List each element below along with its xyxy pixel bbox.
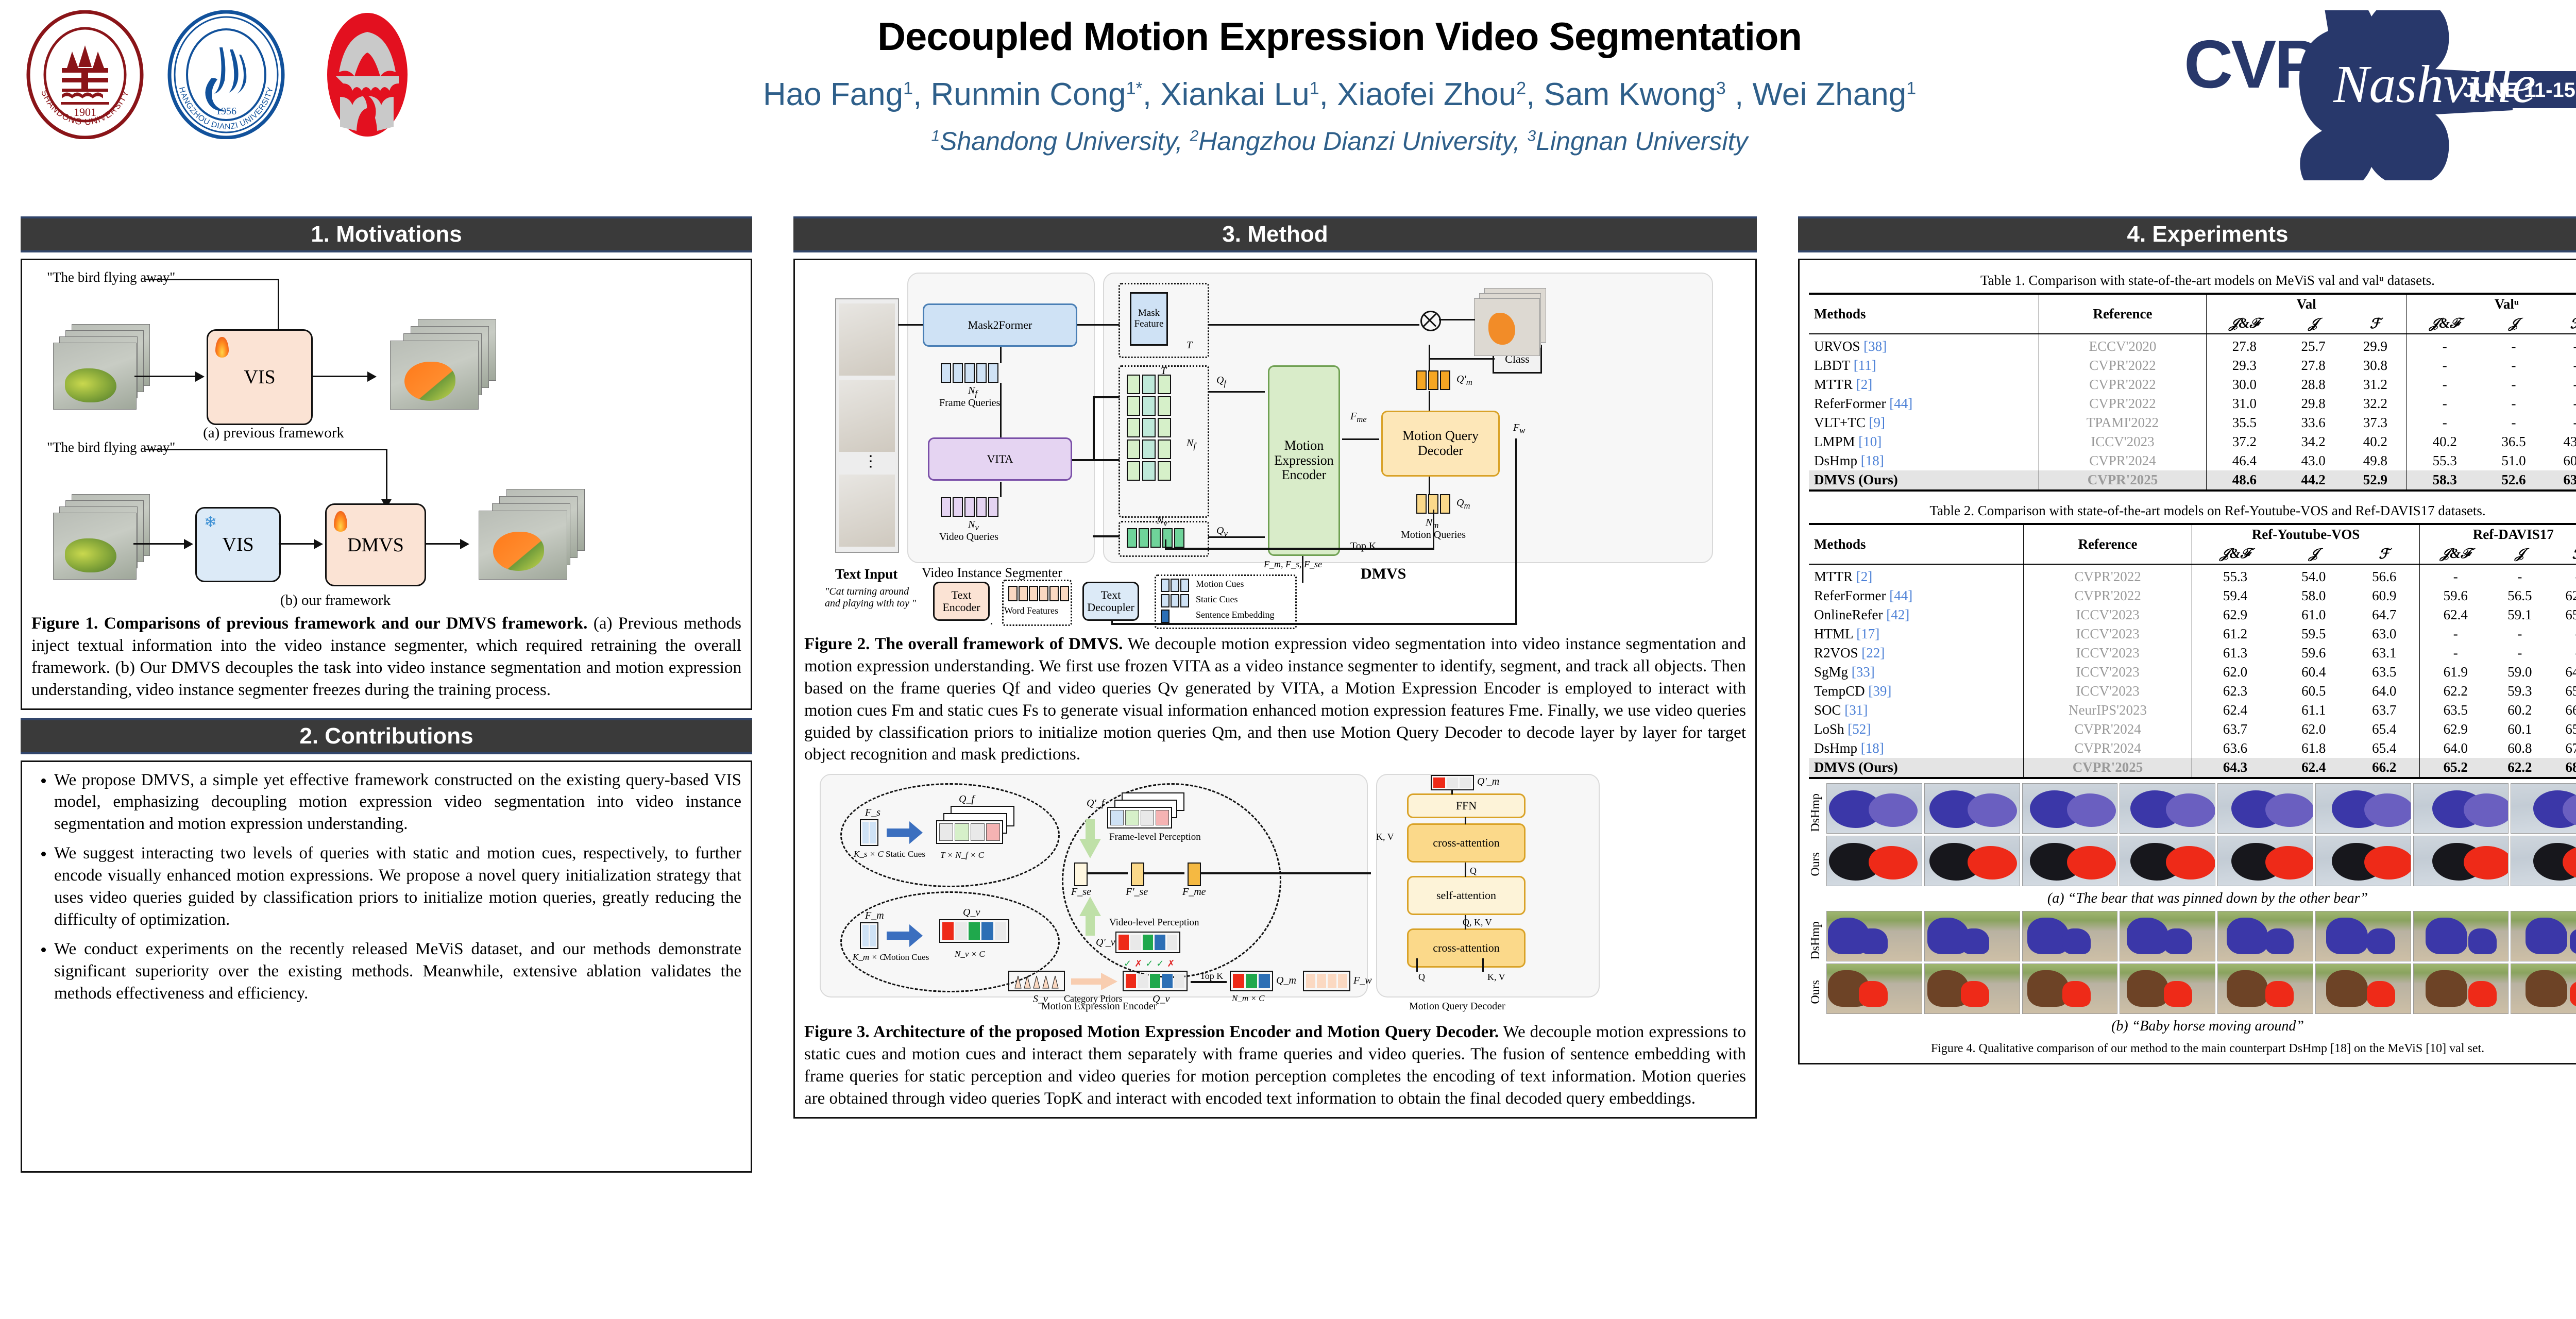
fig3-cross-attention-upper: cross-attention: [1407, 823, 1526, 863]
cell-value: 63.6: [2192, 739, 2278, 758]
fig3-qv-cells: [939, 919, 1009, 943]
poster-header: 1901 SHANDONG UNIVERSITY: [0, 0, 2576, 206]
figure4b-label-ours: Ours: [1809, 980, 1826, 1004]
cell-value: 59.3: [2491, 682, 2549, 701]
column-middle: 3. Method ⋮ Mask2Former VITA: [793, 216, 1757, 1119]
figure1a-output-frames: [382, 319, 516, 422]
table-row: DMVS (Ours)CVPR'202564.362.466.265.262.2…: [1809, 758, 2576, 778]
cell-value: -: [2483, 375, 2545, 394]
fig3-qf-prime-label: Q'_f: [1087, 798, 1104, 809]
cell-value: 34.2: [2282, 432, 2344, 451]
fig2-qf-label: Qf: [1216, 375, 1226, 388]
cell-value: 44.2: [2282, 470, 2344, 491]
table2-group-1: Ref-DAVIS17: [2420, 524, 2576, 544]
figure4-frame: [2413, 783, 2509, 834]
figure2-caption-rest: We decouple motion expression video segm…: [804, 635, 1746, 764]
cell-method: MTTR [2]: [1809, 564, 2024, 586]
cell-value: -: [2483, 413, 2545, 432]
author-3: Xiaofei Zhou2: [1337, 77, 1526, 112]
cell-value: 37.3: [2344, 413, 2406, 432]
cell-value: 63.0: [2349, 624, 2420, 644]
cell-value: 61.8: [2278, 739, 2349, 758]
fig3-mee-name-label: Motion Expression Encoder: [1041, 1001, 1157, 1012]
poster-root: 1901 SHANDONG UNIVERSITY: [0, 0, 2576, 1319]
cell-reference: ICCV'2023: [2024, 624, 2192, 644]
author-list: Hao Fang1, Runmin Cong1*, Xiankai Lu1, X…: [592, 76, 2087, 113]
cell-value: 63.7: [2192, 720, 2278, 739]
cell-reference: ICCV'2023: [2024, 644, 2192, 663]
table-row: ReferFormer [44]CVPR'202231.029.832.2---: [1809, 394, 2576, 413]
fig2-motion-expression-encoder-box: Motion Expression Encoder: [1268, 365, 1340, 556]
section-header-experiments: 4. Experiments: [1798, 216, 2576, 252]
cell-reference: CVPR'2025: [2024, 758, 2192, 778]
cell-value: 62.2: [2491, 758, 2549, 778]
cell-method: TempCD [39]: [1809, 682, 2024, 701]
list-item: We propose DMVS, a simple yet effective …: [54, 769, 741, 836]
table-row: LMPM [10]ICCV'202337.234.240.240.236.543…: [1809, 432, 2576, 451]
figure4-frame: [2511, 911, 2576, 961]
cell-value: 55.3: [2192, 564, 2278, 586]
panel-method: ⋮ Mask2Former VITA Nf Frame Queries: [793, 259, 1757, 1119]
cell-value: 52.9: [2344, 470, 2406, 491]
figure4-frame: [2120, 963, 2215, 1014]
fig3-qv-label: Q_v: [963, 907, 980, 919]
fig2-frame-query-row: [941, 363, 998, 383]
cell-value: 66.2: [2349, 758, 2420, 778]
fig3-fm-cells: [860, 922, 878, 949]
fig3-self-attention: self-attention: [1407, 876, 1526, 915]
cell-value: 60.2: [2491, 701, 2549, 720]
cell-method: OnlineRefer [42]: [1809, 605, 2024, 624]
fig2-vita-box: VITA: [928, 437, 1072, 481]
cell-reference: ICCV'2023: [2024, 663, 2192, 682]
cell-value: 60.8: [2491, 739, 2549, 758]
figure4-row: [1826, 836, 2576, 886]
cell-reference: CVPR'2022: [2024, 586, 2192, 605]
section-header-motivations: 1. Motivations: [21, 216, 752, 252]
table2-metric-2: ℱ: [2349, 544, 2420, 564]
fig3-ksc-label: K_s × C: [854, 849, 884, 859]
figure4-frame: [2022, 911, 2118, 961]
cell-value: -: [2406, 375, 2483, 394]
figure4b-row-labels: DsHmp Ours: [1809, 911, 1826, 1014]
cell-value: 27.8: [2206, 334, 2282, 356]
cell-value: 68.2: [2549, 758, 2576, 778]
figure4-frame: [2022, 783, 2118, 834]
fig3-fs-label: F_s: [865, 807, 880, 819]
cell-reference: CVPR'2022: [2039, 356, 2207, 375]
cell-value: 25.7: [2282, 334, 2344, 356]
fig3-ffn-label: FFN: [1456, 800, 1477, 812]
cell-value: 58.3: [2406, 470, 2483, 491]
cell-reference: CVPR'2022: [2039, 375, 2207, 394]
figure4-frame: [2217, 911, 2313, 961]
cell-value: 61.1: [2278, 701, 2349, 720]
table-row: TempCD [39]ICCV'202362.360.564.062.259.3…: [1809, 682, 2576, 701]
figure4a-label-ours: Ours: [1809, 852, 1826, 876]
cell-method: SgMg [33]: [1809, 663, 2024, 682]
column-left: 1. Motivations "The bird flying away": [21, 216, 752, 1173]
table-row: SOC [31]NeurIPS'202362.461.163.763.560.2…: [1809, 701, 2576, 720]
table-row: OnlineRefer [42]ICCV'202362.961.064.762.…: [1809, 605, 2576, 624]
cell-reference: NeurIPS'2023: [2024, 701, 2192, 720]
cell-value: 54.0: [2278, 564, 2349, 586]
figure-3: F_s K_s × C Static Cues Q_f T × N_f × C: [804, 774, 1746, 1016]
figure4-frame: [1924, 836, 2020, 886]
fig2-T-label-2: T: [1161, 365, 1166, 377]
fig3-fse-prime-cell: [1131, 863, 1144, 886]
cell-method: LMPM [10]: [1809, 432, 2039, 451]
table1-group-0: Val: [2206, 294, 2406, 314]
fig3-nvc-label: N_v × C: [955, 949, 985, 959]
cell-method: LoSh [52]: [1809, 720, 2024, 739]
cell-value: -: [2406, 413, 2483, 432]
cell-value: 36.5: [2483, 432, 2545, 451]
fig2-mask2former-box: Mask2Former: [923, 303, 1077, 347]
table2-metric-1: 𝒥: [2278, 544, 2349, 564]
fig2-sentence-embed-cell: [1161, 610, 1170, 623]
cell-value: 62.2: [2420, 682, 2491, 701]
figure4-frame: [1924, 783, 2020, 834]
cell-value: 64.0: [2349, 682, 2420, 701]
cell-method: SOC [31]: [1809, 701, 2024, 720]
table-row: LBDT [11]CVPR'202229.327.830.8---: [1809, 356, 2576, 375]
snowflake-icon: ❄: [204, 515, 217, 530]
figure1b-vis-box: ❄ VIS: [195, 507, 281, 582]
cell-value: 60.4: [2545, 451, 2576, 470]
cell-value: -: [2491, 644, 2549, 663]
cell-value: 59.4: [2192, 586, 2278, 605]
fig2-topk-label: Top K: [1350, 540, 1376, 552]
table-row: DsHmp [18]CVPR'202446.443.049.855.351.06…: [1809, 451, 2576, 470]
table2-col-methods: Methods: [1809, 524, 2024, 564]
fig3-q-lower-label: Q: [1418, 972, 1425, 983]
fig3-qm-prime-label: Q'_m: [1477, 776, 1499, 788]
cell-value: 60.5: [2278, 682, 2349, 701]
cell-value: 59.6: [2278, 644, 2349, 663]
cell-value: 32.2: [2344, 394, 2406, 413]
author-4: Sam Kwong3: [1544, 77, 1726, 112]
table1-metric-5: ℱ: [2545, 314, 2576, 334]
cell-value: 43.0: [2282, 451, 2344, 470]
panel-contributions: We propose DMVS, a simple yet effective …: [21, 760, 752, 1173]
fig3-video-level-label: Video-level Perception: [1109, 917, 1199, 928]
cell-value: 65.7: [2549, 720, 2576, 739]
fig3-ffn-box: FFN: [1407, 793, 1526, 818]
fig2-sentence-embedding-label: Sentence Embedding: [1196, 610, 1274, 620]
figure4a-label-dshmp: DsHmp: [1809, 793, 1826, 832]
cell-method: DMVS (Ours): [1809, 470, 2039, 491]
figure4-frame: [2022, 836, 2118, 886]
cell-value: 62.9: [2420, 720, 2491, 739]
table1-metric-0: 𝒥&ℱ: [2206, 314, 2282, 334]
fig2-nf-label-2: Nf: [1187, 437, 1196, 451]
cell-value: 27.8: [2282, 356, 2344, 375]
cell-value: 30.0: [2206, 375, 2282, 394]
fig2-qm-prime-label: Q'm: [1456, 374, 1472, 387]
cell-reference: CVPR'2024: [2039, 451, 2207, 470]
cell-value: 65.6: [2549, 605, 2576, 624]
contributions-list: We propose DMVS, a simple yet effective …: [31, 769, 741, 1005]
fig3-fse-cell: [1074, 863, 1088, 886]
cell-value: -: [2420, 624, 2491, 644]
fig2-dmvs-group-label: DMVS: [1361, 565, 1406, 583]
cell-value: 28.8: [2282, 375, 2344, 394]
page-title: Decoupled Motion Expression Video Segmen…: [592, 15, 2087, 59]
section-header-contributions: 2. Contributions: [21, 718, 752, 754]
fig3-nmc-label: N_m × C: [1232, 993, 1264, 1004]
cell-value: 62.3: [2192, 682, 2278, 701]
section-header-method: 3. Method: [793, 216, 1757, 252]
fig2-T-label-1: T: [1187, 340, 1192, 351]
hangzhou-dianzi-university-logo: 1956 HANGZHOU DIANZI UNIVERSITY: [162, 10, 291, 139]
cell-value: 63.1: [2349, 644, 2420, 663]
fig2-word-feature-row: [1008, 586, 1069, 601]
table1-metric-1: 𝒥: [2282, 314, 2344, 334]
cell-method: ReferFormer [44]: [1809, 394, 2039, 413]
figure1a-vis-label: VIS: [244, 366, 275, 388]
figure4-frame: [2022, 963, 2118, 1014]
cell-value: 62.7: [2549, 586, 2576, 605]
cell-value: 30.8: [2344, 356, 2406, 375]
fig2-nm-label: Nm: [1426, 517, 1438, 531]
cell-value: 35.5: [2206, 413, 2282, 432]
fig3-mqd-name-label: Motion Query Decoder: [1409, 1001, 1505, 1012]
fig2-text-decoupler-label: Text Decoupler: [1084, 589, 1138, 614]
cell-value: 52.6: [2483, 470, 2545, 491]
fig2-video-query-row: [941, 497, 998, 517]
figure4-frame: [1826, 911, 1922, 961]
table1-metric-4: 𝒥: [2483, 314, 2545, 334]
fig2-motion-query-decoder-box: Motion Query Decoder: [1381, 411, 1500, 477]
table-row: R2VOS [22]ICCV'202361.359.663.1---: [1809, 644, 2576, 663]
cell-value: -: [2420, 644, 2491, 663]
cell-method: HTML [17]: [1809, 624, 2024, 644]
cell-value: 40.2: [2406, 432, 2483, 451]
cell-method: DsHmp [18]: [1809, 451, 2039, 470]
fig3-kmc-label: K_m × C: [853, 952, 885, 962]
figure4-frame: [2511, 836, 2576, 886]
fig2-nf-label: Nf: [968, 385, 977, 399]
figure4-frame: [1924, 963, 2020, 1014]
table-row: VLT+TC [9]TPAMI'202235.533.637.3---: [1809, 413, 2576, 432]
list-item: We suggest interacting two levels of que…: [54, 842, 741, 931]
cell-value: 62.4: [2278, 758, 2349, 778]
cell-value: 61.0: [2278, 605, 2349, 624]
cell-value: 65.0: [2549, 682, 2576, 701]
cell-value: 46.4: [2206, 451, 2282, 470]
cell-value: 62.0: [2278, 720, 2349, 739]
figure4-subcaption-b: (b) “Baby horse moving around”: [1809, 1018, 2576, 1035]
cell-value: 60.4: [2278, 663, 2349, 682]
cell-reference: TPAMI'2022: [2039, 413, 2207, 432]
table1-caption: Table 1. Comparison with state-of-the-ar…: [1809, 273, 2576, 289]
fig2-text-sample: "Cat turning around and playing with toy…: [825, 586, 918, 610]
figure1b-dmvs-label: DMVS: [347, 534, 404, 556]
fig2-qm-label: Qm: [1456, 497, 1470, 511]
fig2-nv-label: Nv: [968, 519, 979, 533]
figure1b-output-frames: [473, 489, 602, 592]
figure4-row: [1826, 963, 2576, 1014]
fig2-mask-feature-label: Mask Feature: [1131, 308, 1166, 330]
flame-icon: [215, 337, 229, 358]
cell-value: -: [2491, 624, 2549, 644]
cell-value: 61.9: [2420, 663, 2491, 682]
figure4-frame: [2120, 783, 2215, 834]
table-2: Methods Reference Ref-Youtube-VOS Ref-DA…: [1809, 523, 2576, 779]
table2-group-0: Ref-Youtube-VOS: [2192, 524, 2420, 544]
cell-value: 55.3: [2406, 451, 2483, 470]
fig2-static-cues-label: Static Cues: [1196, 594, 1238, 605]
figure1-caption-bold: Figure 1. Comparisons of previous framew…: [31, 614, 587, 633]
fig2-qv-row: [1127, 528, 1184, 548]
table2-metric-4: 𝒥: [2491, 544, 2549, 564]
figure4-frame: [2315, 836, 2411, 886]
cell-value: 63.5: [2420, 701, 2491, 720]
university-logos: 1901 SHANDONG UNIVERSITY: [21, 10, 432, 139]
table2-col-reference: Reference: [2024, 524, 2192, 564]
fig2-text-decoupler-box: Text Decoupler: [1082, 582, 1139, 621]
cell-reference: ICCV'2023: [2024, 682, 2192, 701]
figure4-frame: [2315, 911, 2411, 961]
cell-reference: ICCV'2023: [2024, 605, 2192, 624]
cell-value: 62.9: [2192, 605, 2278, 624]
section-title-motivations: 1. Motivations: [311, 222, 462, 247]
fig2-output-frames: [1474, 288, 1551, 355]
figure-2: ⋮ Mask2Former VITA Nf Frame Queries: [804, 267, 1746, 628]
cell-value: 63.9: [2545, 470, 2576, 491]
figure4-subcaption-a: (a) “The bear that was pinned down by th…: [1809, 890, 2576, 907]
panel-experiments: Table 1. Comparison with state-of-the-ar…: [1798, 259, 2576, 1064]
figure4-frame: [2511, 963, 2576, 1014]
figure4-frame: [1826, 783, 1922, 834]
fig2-mask-feature-box: Mask Feature: [1130, 292, 1168, 346]
cell-value: 66.7: [2549, 701, 2576, 720]
cell-method: MTTR [2]: [1809, 375, 2039, 394]
cell-method: URVOS [38]: [1809, 334, 2039, 356]
cell-value: 56.6: [2349, 564, 2420, 586]
cell-value: 62.0: [2192, 663, 2278, 682]
figure4-row: [1826, 911, 2576, 961]
fig2-text-encoder-box: Text Encoder: [933, 582, 990, 621]
fig2-motion-cues-label: Motion Cues: [1196, 579, 1244, 589]
cell-value: 64.8: [2549, 663, 2576, 682]
figure3-caption: Figure 3. Architecture of the proposed M…: [804, 1021, 1746, 1110]
section-title-contributions: 2. Contributions: [299, 723, 473, 749]
figure4-frame: [1826, 836, 1922, 886]
cell-value: 31.0: [2206, 394, 2282, 413]
fig2-word-features-label: Word Features: [1004, 605, 1058, 616]
cell-method: ReferFormer [44]: [1809, 586, 2024, 605]
cell-value: -: [2483, 334, 2545, 356]
fig3-q-label: Q: [1470, 866, 1477, 876]
cell-value: 59.5: [2278, 624, 2349, 644]
figure1-subcaption-b: (b) our framework: [227, 592, 444, 609]
fig2-motion-cue-cells: [1161, 579, 1189, 592]
table-row: SgMg [33]ICCV'202362.060.463.561.959.064…: [1809, 663, 2576, 682]
table1-group-1: Valᵘ: [2406, 294, 2576, 314]
cell-value: 64.7: [2349, 605, 2420, 624]
figure4-frame: [2315, 963, 2411, 1014]
fig2-multiply-icon: [1420, 311, 1441, 331]
figure4-frame: [2413, 836, 2509, 886]
fig3-cross-attn-lower-label: cross-attention: [1433, 942, 1500, 954]
cell-method: VLT+TC [9]: [1809, 413, 2039, 432]
fig3-motion-cues-label: Motion Cues: [884, 952, 929, 962]
cell-value: 60.1: [2491, 720, 2549, 739]
cell-method: LBDT [11]: [1809, 356, 2039, 375]
cell-value: 65.2: [2420, 758, 2491, 778]
cell-value: 31.2: [2344, 375, 2406, 394]
fig3-frame-level-label: Frame-level Perception: [1109, 832, 1201, 843]
fig2-vita-label: VITA: [987, 453, 1013, 465]
fig2-text-encoder-label: Text Encoder: [935, 589, 988, 614]
figure4-frame: [2120, 836, 2215, 886]
fig3-qkv-label: Q, K, V: [1463, 917, 1492, 928]
figure4-frame: [1826, 963, 1922, 1014]
fig3-kv-upper-label: K, V: [1376, 832, 1394, 842]
table2-metric-3: 𝒥&ℱ: [2420, 544, 2491, 564]
table2-metric-5: ℱ: [2549, 544, 2576, 564]
cell-value: -: [2549, 644, 2576, 663]
figure1-prompt-a: "The bird flying away": [47, 269, 175, 285]
cell-value: 49.8: [2344, 451, 2406, 470]
figure1-prompt-b: "The bird flying away": [47, 439, 175, 455]
fig2-text-input-label: Text Input: [835, 566, 897, 582]
cell-value: 56.5: [2491, 586, 2549, 605]
cell-method: DsHmp [18]: [1809, 739, 2024, 758]
cvpr-logo: CVPR Nashville JUNE 11-15, 2025: [2179, 10, 2576, 180]
fig3-cross-attention-lower: cross-attention: [1407, 928, 1526, 968]
figure4-frame: [2511, 783, 2576, 834]
cell-value: 63.7: [2349, 701, 2420, 720]
section-title-method: 3. Method: [1222, 222, 1328, 247]
fig2-mask2former-label: Mask2Former: [968, 319, 1032, 331]
table2-caption: Table 2. Comparison with state-of-the-ar…: [1809, 503, 2576, 519]
fig3-kv-lower-label: K, V: [1487, 972, 1505, 983]
cell-value: 62.4: [2420, 605, 2491, 624]
hangzhou-logo-year: 1956: [216, 106, 236, 117]
fig2-qm-prime-row: [1416, 370, 1450, 390]
cell-value: 59.0: [2491, 663, 2549, 682]
figure2-caption: Figure 2. The overall framework of DMVS.…: [804, 633, 1746, 766]
fig2-frame-queries-label: Frame Queries: [939, 397, 1000, 409]
fig2-cue-feats-label: F_m, F_s, F_se: [1264, 559, 1322, 570]
fig2-nv-label-2: Nv: [1157, 515, 1167, 529]
cell-value: 43.9: [2545, 432, 2576, 451]
figure4-frame: [2217, 836, 2313, 886]
fig3-tnfc-label: T × N_f × C: [940, 850, 984, 860]
cvpr-dates-text: JUNE 11-15, 2025: [2463, 79, 2576, 102]
figure4-frame: [2120, 911, 2215, 961]
cell-value: -: [2491, 564, 2549, 586]
fig3-fw-label: F_w: [1353, 975, 1372, 987]
fig3-fme-label: F_me: [1182, 886, 1206, 898]
table-row: HTML [17]ICCV'202361.259.563.0---: [1809, 624, 2576, 644]
cell-value: -: [2420, 564, 2491, 586]
cell-value: 33.6: [2282, 413, 2344, 432]
table-row: URVOS [38]ECCV'202027.825.729.9---: [1809, 334, 2576, 356]
fig3-self-attn-label: self-attention: [1436, 889, 1496, 902]
cell-method: R2VOS [22]: [1809, 644, 2024, 663]
cell-value: 64.0: [2420, 739, 2491, 758]
cell-reference: CVPR'2022: [2024, 564, 2192, 586]
fig3-fse-prime-label: F'_se: [1126, 886, 1148, 898]
fig2-static-cue-cells: [1161, 594, 1189, 607]
figure1b-vis-label: VIS: [222, 533, 253, 556]
cell-value: 58.0: [2278, 586, 2349, 605]
fig2-qf-grid: [1127, 375, 1171, 481]
